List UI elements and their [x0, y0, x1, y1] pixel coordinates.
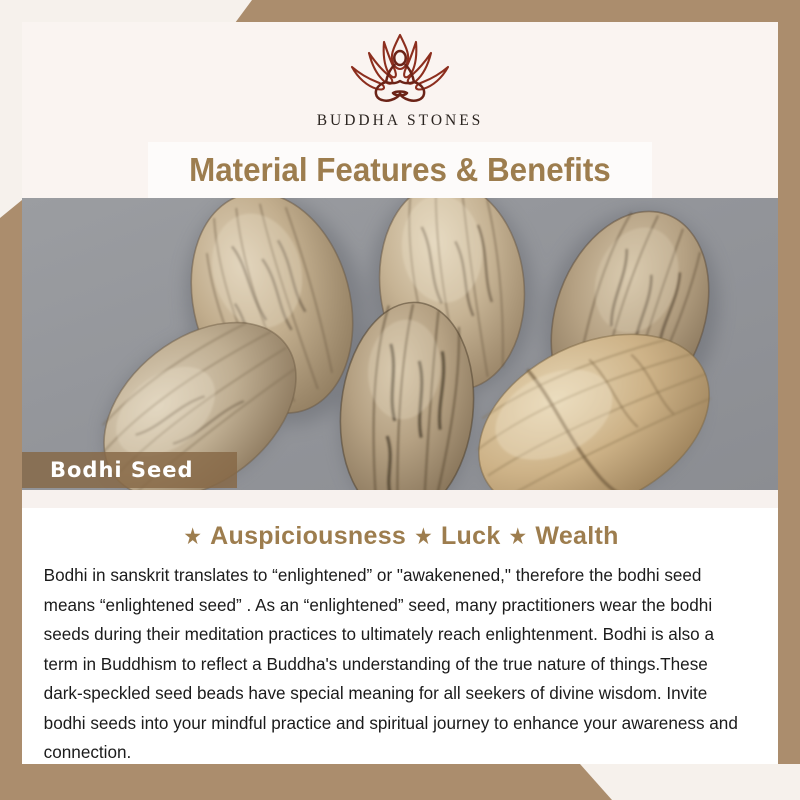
separator-strip [22, 490, 778, 508]
frame-bottom-left [0, 764, 612, 800]
photo-caption-text: Bodhi Seed [22, 458, 194, 482]
bodhi-seed-photo-illustration [22, 198, 778, 490]
product-photo: Bodhi Seed [22, 198, 778, 490]
star-icon: ★ [509, 523, 528, 549]
page-title: Material Features & Benefits [189, 151, 611, 189]
brand-logo: BUDDHA STONES [22, 22, 778, 130]
header: BUDDHA STONES [22, 22, 778, 142]
photo-caption-band: Bodhi Seed [22, 452, 237, 488]
description-section: ★Auspiciousness★Luck★Wealth Bodhi in san… [22, 508, 778, 764]
frame-right [778, 0, 800, 764]
star-icon: ★ [183, 523, 202, 549]
lotus-meditation-figure-icon [331, 28, 469, 110]
description-text: Bodhi in sanskrit translates to “enlight… [22, 551, 767, 768]
star-icon: ★ [414, 523, 433, 549]
frame-left [0, 200, 22, 800]
title-banner: Material Features & Benefits [148, 142, 652, 198]
benefit-label-wealth: Wealth [535, 522, 618, 550]
benefit-label-luck: Luck [441, 522, 501, 550]
benefit-label-auspiciousness: Auspiciousness [210, 522, 406, 550]
benefits-headline: ★Auspiciousness★Luck★Wealth [22, 508, 778, 551]
brand-name: BUDDHA STONES [317, 112, 484, 130]
infographic-page: BUDDHA STONES Material Features & Benefi… [0, 0, 800, 800]
